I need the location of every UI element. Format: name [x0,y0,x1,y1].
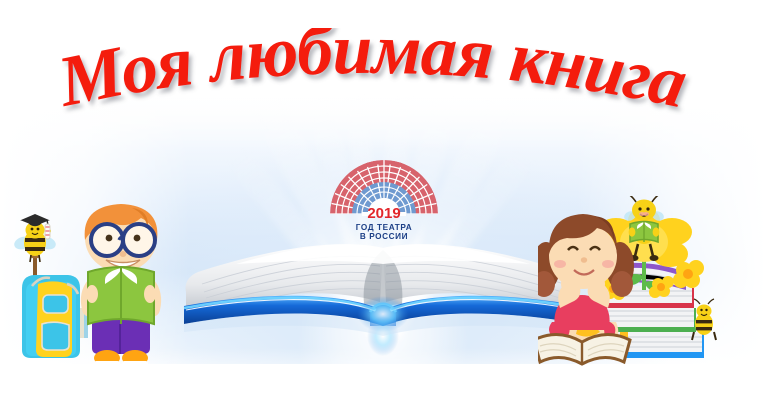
boy-reading [81,204,161,366]
year-of-theatre-logo: 2019 ГОД ТЕАТРА В РОССИИ [322,140,446,240]
logo-line-1: ГОД ТЕАТРА [356,223,413,232]
accessible-title: Моя любимая книга [0,16,1,17]
graduate-bee [13,214,58,286]
logo-line-2: В РОССИИ [360,232,408,240]
poster-title: Моя любимая книга [0,28,766,138]
left-illustration-group [4,196,204,370]
logo-year: 2019 [367,205,400,222]
poster-canvas: Моя любимая книга [0,0,766,418]
poster-title-text: Моя любимая книга [51,28,693,123]
right-illustration-group [538,196,738,372]
school-backpack [22,275,88,358]
open-book [180,232,586,358]
